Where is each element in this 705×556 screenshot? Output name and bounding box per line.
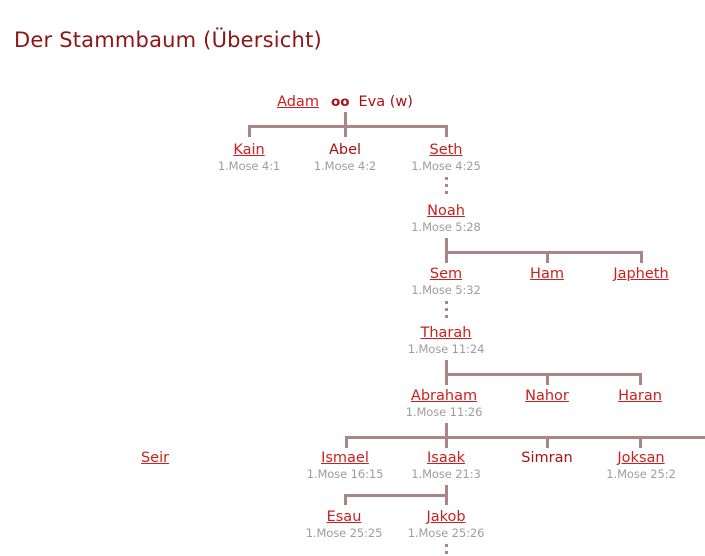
person-ref-joksan: 1.Mose 25:2 (606, 468, 675, 480)
person-ref-kain: 1.Mose 4:1 (218, 160, 280, 172)
couple-adam-eva: AdamooEva (w) (277, 94, 413, 110)
person-node-japheth[interactable]: Japheth (613, 265, 668, 284)
person-node-simran: Simran (521, 449, 572, 468)
person-ref-noah: 1.Mose 5:28 (411, 221, 480, 233)
connector-stub-sem (445, 251, 448, 263)
connector-bar-abraham-children (345, 436, 705, 439)
person-ref-abel: 1.Mose 4:2 (314, 160, 376, 172)
connector-stub-ismael (345, 436, 348, 448)
connector-stub-nahor (546, 373, 549, 385)
connector-bar-noah-children (445, 251, 643, 254)
connector-stub-ham (546, 251, 549, 263)
connector-stub-parent-abraham (445, 423, 448, 437)
person-name-japheth[interactable]: Japheth (613, 267, 668, 282)
person-node-tharah[interactable]: Tharah 1.Mose 11:24 (408, 324, 485, 355)
connector-stub-abraham (445, 373, 448, 385)
person-node-abraham[interactable]: Abraham 1.Mose 11:26 (406, 387, 483, 418)
person-node-sem[interactable]: Sem 1.Mose 5:32 (411, 265, 480, 296)
person-name-ham[interactable]: Ham (530, 267, 564, 282)
person-node-isaak[interactable]: Isaak 1.Mose 21:3 (411, 449, 480, 480)
person-name-sem[interactable]: Sem (430, 267, 462, 282)
connector-dotted-jakob-descendants (445, 544, 448, 556)
connector-bar-adam-children (248, 125, 448, 128)
person-name-seth[interactable]: Seth (429, 143, 462, 158)
family-tree-diagram: AdamooEva (w) Kain 1.Mose 4:1 Abel 1.Mos… (0, 0, 705, 550)
person-ref-abraham: 1.Mose 11:26 (406, 406, 483, 418)
person-ref-tharah: 1.Mose 11:24 (408, 343, 485, 355)
person-name-jakob[interactable]: Jakob (426, 510, 465, 525)
connector-dotted-sem-tharah (445, 301, 448, 322)
person-node-esau[interactable]: Esau 1.Mose 25:25 (306, 508, 383, 539)
person-ref-seth: 1.Mose 4:25 (411, 160, 480, 172)
person-ref-jakob: 1.Mose 25:26 (408, 527, 485, 539)
connector-stub-isaak (445, 436, 448, 448)
connector-dotted-seth-noah (445, 177, 448, 198)
person-link-adam[interactable]: Adam (277, 94, 319, 110)
connector-stub-seth (445, 125, 448, 137)
person-ref-sem: 1.Mose 5:32 (411, 284, 480, 296)
person-node-nahor[interactable]: Nahor (525, 387, 569, 406)
person-name-noah[interactable]: Noah (427, 204, 465, 219)
person-name-nahor[interactable]: Nahor (525, 389, 569, 404)
person-name-tharah[interactable]: Tharah (421, 326, 472, 341)
connector-stub-japheth (640, 251, 643, 263)
person-name-esau[interactable]: Esau (327, 510, 362, 525)
person-name-isaak[interactable]: Isaak (427, 451, 465, 466)
person-node-kain[interactable]: Kain 1.Mose 4:1 (218, 141, 280, 172)
connector-bar-isaak-children (344, 494, 448, 497)
connector-stub-parent-tharah (445, 360, 448, 374)
person-ref-isaak: 1.Mose 21:3 (411, 468, 480, 480)
person-node-seth[interactable]: Seth 1.Mose 4:25 (411, 141, 480, 172)
person-name-kain[interactable]: Kain (233, 143, 264, 158)
connector-stub-jakob (445, 494, 448, 505)
person-name-seir[interactable]: Seir (141, 451, 169, 466)
person-name-joksan[interactable]: Joksan (617, 451, 664, 466)
person-node-haran[interactable]: Haran (618, 387, 662, 406)
person-node-ham[interactable]: Ham (530, 265, 564, 284)
person-node-jakob[interactable]: Jakob 1.Mose 25:26 (408, 508, 485, 539)
connector-stub-parent-noah (445, 238, 448, 252)
connector-stub-simran (546, 436, 549, 448)
connector-bar-tharah-children (445, 373, 642, 376)
person-ref-esau: 1.Mose 25:25 (306, 527, 383, 539)
person-name-abraham[interactable]: Abraham (411, 389, 477, 404)
person-node-abel: Abel 1.Mose 4:2 (314, 141, 376, 172)
person-label-eva: Eva (w) (359, 94, 413, 110)
connector-stub-parent-adam (344, 112, 347, 126)
connector-stub-joksan (639, 436, 642, 448)
person-node-joksan[interactable]: Joksan 1.Mose 25:2 (606, 449, 675, 480)
marriage-symbol: oo (331, 94, 350, 110)
connector-stub-kain (248, 125, 251, 137)
person-node-ismael[interactable]: Ismael 1.Mose 16:15 (307, 449, 384, 480)
person-name-ismael[interactable]: Ismael (321, 451, 369, 466)
connector-stub-esau (344, 494, 347, 505)
person-node-noah[interactable]: Noah 1.Mose 5:28 (411, 202, 480, 233)
person-node-seir[interactable]: Seir (141, 449, 169, 468)
person-ref-ismael: 1.Mose 16:15 (307, 468, 384, 480)
person-name-haran[interactable]: Haran (618, 389, 662, 404)
connector-stub-abel (344, 125, 347, 137)
person-name-abel: Abel (329, 143, 361, 158)
person-name-simran: Simran (521, 451, 572, 466)
connector-stub-haran (639, 373, 642, 385)
